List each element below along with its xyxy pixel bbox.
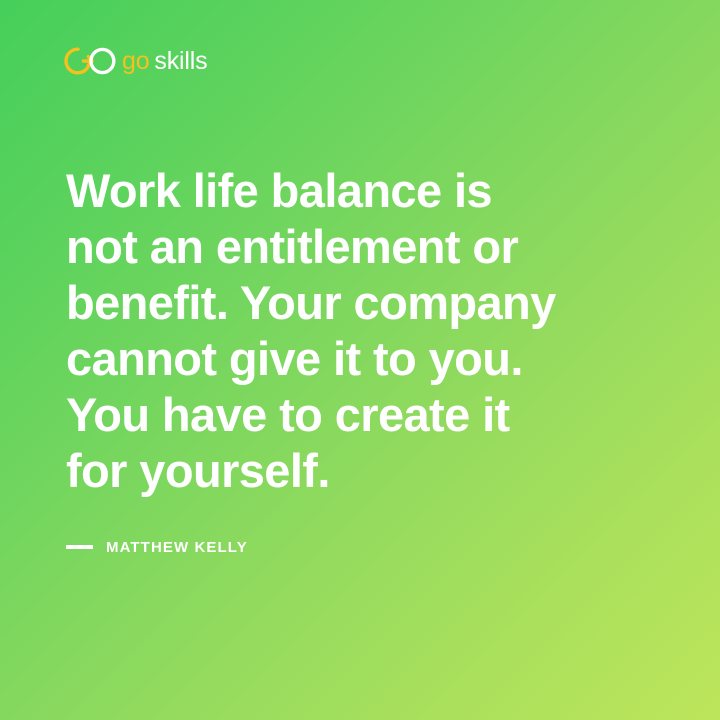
- brand-name-go: go: [122, 49, 149, 74]
- infinity-loop-icon: [62, 45, 116, 77]
- brand-name-skills: skills: [154, 49, 207, 74]
- attribution: MATTHEW KELLY: [66, 537, 248, 557]
- brand-wordmark: go skills: [122, 49, 207, 74]
- quote-card: go skills Work life balance is not an en…: [0, 0, 720, 720]
- quote-text: Work life balance is not an entitlement …: [66, 163, 666, 499]
- quote-author: MATTHEW KELLY: [106, 540, 248, 555]
- em-dash-rule-icon: [66, 545, 93, 549]
- brand-logo[interactable]: go skills: [62, 41, 207, 81]
